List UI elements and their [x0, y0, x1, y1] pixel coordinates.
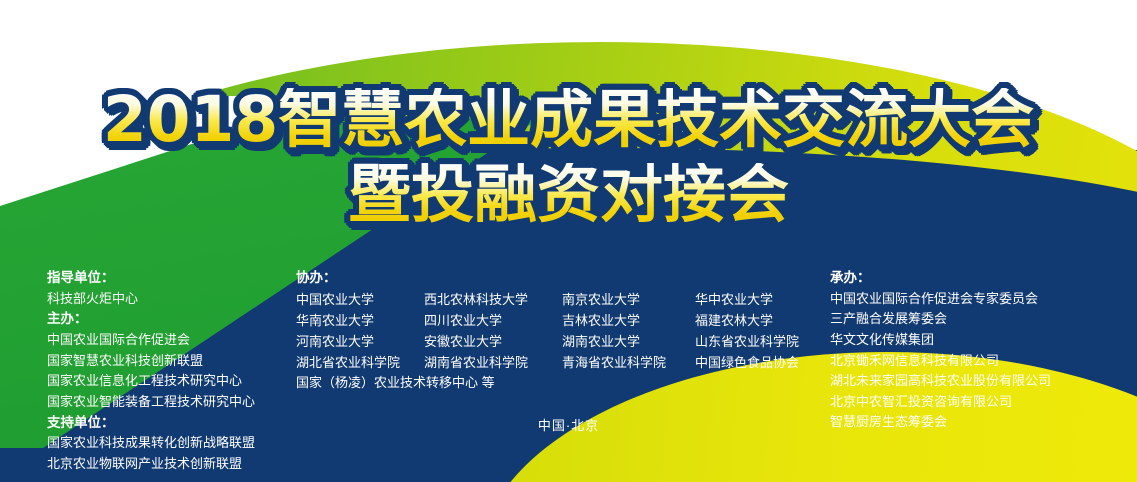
assist-item: 吉林农业大学: [562, 310, 695, 331]
support-item: 北京农业物联网产业技术创新联盟: [47, 454, 297, 475]
organizer-item: 三产融合发展筹委会: [830, 309, 1130, 330]
assist-item: 湖南省农业科学院: [424, 352, 562, 373]
assist-item: 南京农业大学: [562, 289, 695, 310]
support-item: 国家农业科技成果转化创新战略联盟: [47, 433, 297, 454]
conference-banner: 2018智慧农业成果技术交流大会 暨投融资对接会 指导单位： 科技部火炬中心 主…: [0, 0, 1137, 482]
organizer-item: 华文文化传媒集团: [830, 330, 1130, 351]
assist-item: 华中农业大学: [695, 289, 826, 310]
host-item: 国家农业信息化工程技术研究中心: [47, 371, 297, 392]
assist-item: 四川农业大学: [424, 310, 562, 331]
assist-item: 华南农业大学: [296, 310, 424, 331]
assist-item: 安徽农业大学: [424, 331, 562, 352]
assist-item: 西北农林科技大学: [424, 289, 562, 310]
guide-item: 科技部火炬中心: [47, 289, 297, 310]
assist-item: 中国绿色食品协会: [695, 352, 826, 373]
assist-item: 中国农业大学: [296, 289, 424, 310]
organizer-item: 北京锄禾网信息科技有限公司: [830, 351, 1130, 372]
organizer-item: 湖北未来家园高科技农业股份有限公司: [830, 371, 1130, 392]
assist-item: 青海省农业科学院: [562, 352, 695, 373]
host-header: 主办：: [47, 309, 297, 330]
host-item: 国家智慧农业科技创新联盟: [47, 351, 297, 372]
host-item: 国家农业智能装备工程技术研究中心: [47, 392, 297, 413]
assist-last-line: 国家（杨凌）农业技术转移中心 等: [296, 373, 826, 394]
assist-item: 湖北省农业科学院: [296, 352, 424, 373]
organizations-info: 指导单位： 科技部火炬中心 主办： 中国农业国际合作促进会 国家智慧农业科技创新…: [0, 268, 1137, 468]
organizer-column: 承办： 中国农业国际合作促进会专家委员会 三产融合发展筹委会 华文文化传媒集团 …: [830, 268, 1130, 433]
guide-header: 指导单位：: [47, 268, 297, 289]
assist-header: 协办：: [296, 268, 826, 289]
assist-item: 山东省农业科学院: [695, 331, 826, 352]
assist-item: 湖南农业大学: [562, 331, 695, 352]
assist-item: 福建农林大学: [695, 310, 826, 331]
event-location: 中国·北京: [0, 415, 1137, 434]
host-item: 中国农业国际合作促进会: [47, 330, 297, 351]
assist-grid: 中国农业大学 西北农林科技大学 南京农业大学 华中农业大学 华南农业大学 四川农…: [296, 289, 826, 373]
assist-item: 河南农业大学: [296, 331, 424, 352]
assist-column: 协办： 中国农业大学 西北农林科技大学 南京农业大学 华中农业大学 华南农业大学…: [296, 268, 826, 394]
organizer-header: 承办：: [830, 268, 1130, 289]
organizer-item: 中国农业国际合作促进会专家委员会: [830, 289, 1130, 310]
guide-column: 指导单位： 科技部火炬中心 主办： 中国农业国际合作促进会 国家智慧农业科技创新…: [47, 268, 297, 474]
organizer-item: 北京中农智汇投资咨询有限公司: [830, 392, 1130, 413]
